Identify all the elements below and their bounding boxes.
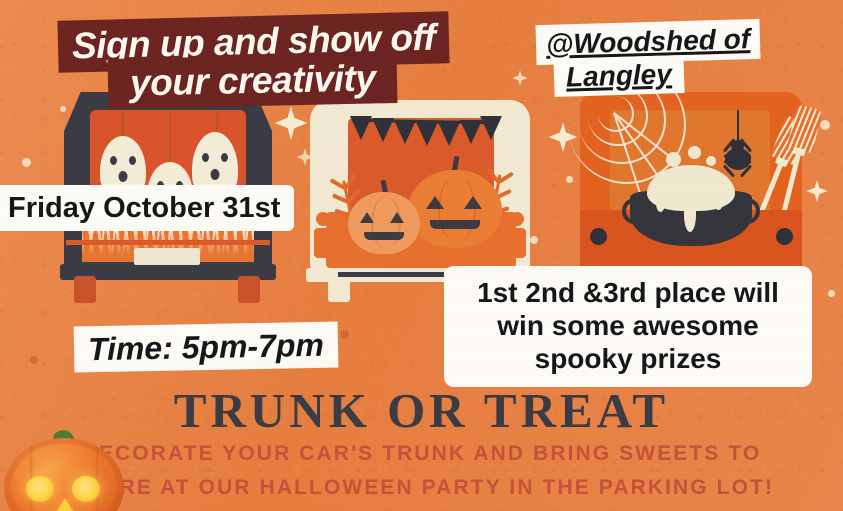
sparkle-star: [512, 70, 528, 86]
cauldron-icon: [630, 158, 752, 246]
bunting-flag: [416, 122, 438, 146]
car-hubcap: [590, 228, 607, 245]
sparkle-dot-dark: [30, 356, 38, 364]
bunting-flag: [460, 120, 482, 144]
social-handle-line2[interactable]: Langley: [553, 55, 684, 97]
car-hubcap: [776, 228, 793, 245]
truck-taillight: [314, 228, 332, 258]
pumpkin-eye: [390, 212, 404, 223]
pumpkin-eye: [360, 212, 374, 223]
cauldron-drip: [714, 194, 723, 210]
trunk-or-treat-poster: Sign up and show off your creativity @Wo…: [0, 0, 843, 511]
truck-taillight: [508, 228, 526, 258]
prizes-line: spooky prizes: [458, 342, 798, 375]
social-handle-text: Langley: [566, 58, 673, 93]
jack-o-lantern-icon: [4, 424, 124, 511]
subtitle-line-2: SHARE AT OUR HALLOWEEN PARTY IN THE PARK…: [0, 476, 843, 500]
pumpkin-mouth: [364, 232, 404, 240]
bunting-flag: [480, 116, 502, 140]
event-time-banner: Time: 5pm-7pm: [74, 321, 339, 372]
pumpkin-mouth: [430, 220, 480, 229]
car-wheel: [74, 276, 96, 303]
bunting-flag: [394, 120, 416, 144]
bunting-flag: [372, 118, 394, 142]
truck-light: [316, 212, 330, 226]
cauldron-drip: [684, 198, 696, 232]
pumpkin-eye: [464, 196, 482, 209]
pumpkin-icon: [348, 192, 420, 254]
bunting-flag: [438, 122, 460, 146]
sparkle-dot: [22, 158, 31, 167]
bunting-flag: [350, 116, 372, 140]
pumpkin-eye: [426, 196, 444, 209]
ghost-string: [169, 112, 171, 164]
headline-banner-line2: your creativity: [108, 53, 398, 109]
subtitle-line-1: DECORATE YOUR CAR'S TRUNK AND BRING SWEE…: [0, 442, 843, 466]
sparkle-dot: [828, 290, 835, 297]
cauldron-bubble: [666, 152, 681, 167]
pumpkin-icon: [408, 170, 502, 248]
license-plate: [134, 248, 200, 265]
page-title: TRUNK OR TREAT: [0, 382, 843, 439]
car-stripe: [66, 240, 270, 245]
pumpkin-nose: [56, 498, 74, 511]
event-date-banner: Friday October 31st: [0, 185, 294, 231]
pumpkin-eye: [72, 476, 100, 502]
cauldron-bubble: [688, 146, 701, 159]
truck-light: [510, 212, 524, 226]
truck-wheel: [328, 280, 350, 302]
ghost-string: [216, 112, 218, 134]
cauldron-bubble: [706, 156, 716, 166]
prizes-line: win some awesome: [458, 309, 798, 342]
car-wheel: [238, 276, 260, 303]
cauldron-drip: [656, 194, 665, 212]
prizes-callout: 1st 2nd &3rd place will win some awesome…: [444, 266, 812, 387]
truck-rail: [338, 272, 444, 277]
sparkle-dot-dark: [340, 330, 349, 339]
prizes-line: 1st 2nd &3rd place will: [458, 276, 798, 309]
pumpkin-eye: [26, 476, 54, 502]
ghost-string: [122, 112, 124, 138]
